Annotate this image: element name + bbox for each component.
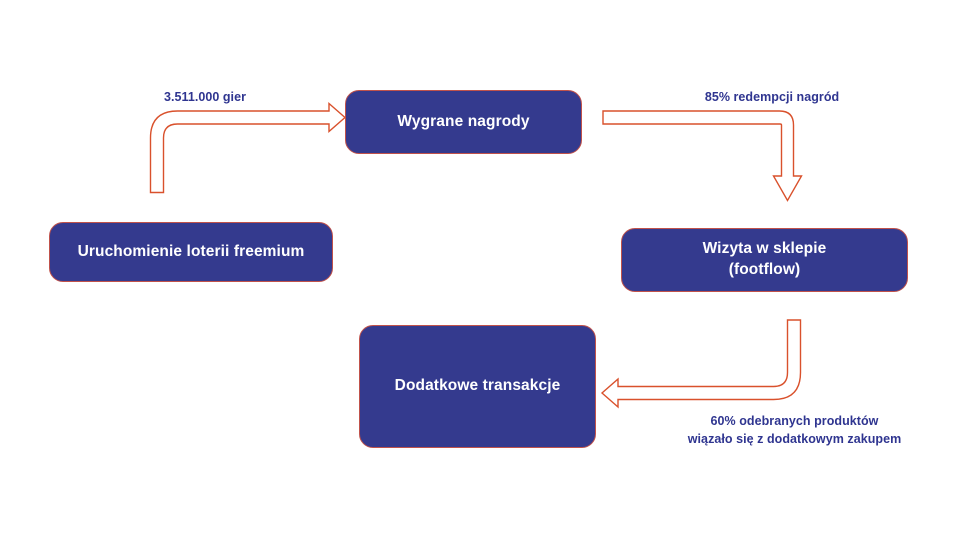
arrow-store-to-transactions xyxy=(602,320,801,407)
edge-label-store-to-transactions: 60% odebranych produktów wiązało się z d… xyxy=(638,412,951,448)
node-launch-label: Uruchomienie loterii freemium xyxy=(78,242,305,263)
edge-label-prizes-to-store: 85% redempcji nagród xyxy=(687,88,857,106)
node-transactions[interactable]: Dodatkowe transakcje xyxy=(359,325,596,448)
node-prizes-label: Wygrane nagrody xyxy=(397,112,529,133)
node-store-visit[interactable]: Wizyta w sklepie (footflow) xyxy=(621,228,908,292)
node-store-visit-label: Wizyta w sklepie (footflow) xyxy=(703,239,827,281)
arrow-launch-to-prizes xyxy=(151,104,346,193)
node-transactions-label: Dodatkowe transakcje xyxy=(395,376,561,397)
edge-label-launch-to-prizes: 3.511.000 gier xyxy=(155,88,255,106)
node-launch[interactable]: Uruchomienie loterii freemium xyxy=(49,222,333,282)
node-prizes[interactable]: Wygrane nagrody xyxy=(345,90,582,154)
arrow-prizes-to-store xyxy=(603,111,802,201)
diagram-canvas: Uruchomienie loterii freemium Wygrane na… xyxy=(0,0,960,540)
